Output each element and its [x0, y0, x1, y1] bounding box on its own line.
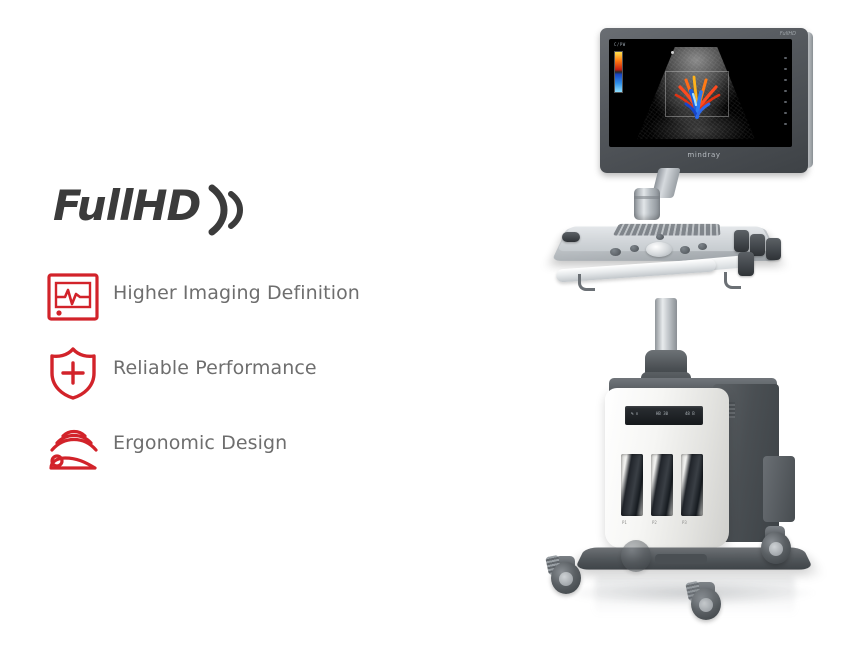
probe-port: [651, 454, 673, 516]
cable-hook: [578, 274, 595, 291]
control-panel: [538, 212, 800, 304]
status-strip-label: 48 B: [685, 411, 695, 416]
feature-list: Higher Imaging Definition Reliable Perfo…: [45, 270, 465, 495]
probe-port-label: P1: [622, 520, 627, 525]
fullhd-label: FullHD: [53, 182, 200, 230]
keyboard: [613, 224, 721, 236]
doppler-colorbar: [614, 51, 623, 93]
rotary-knob: [630, 245, 639, 252]
cart-rear-module: [763, 456, 795, 522]
probe-holder: [562, 232, 580, 242]
rotary-knob: [656, 234, 664, 240]
cable-hook: [724, 272, 741, 289]
lift-column: [655, 298, 677, 358]
caster-hub: [769, 542, 783, 556]
depth-scale-ticks: [784, 57, 788, 133]
feature-item: Higher Imaging Definition: [45, 270, 465, 345]
monitor-waveform-icon: [45, 270, 101, 326]
fullhd-badge: FullHD: [53, 182, 313, 244]
feature-item: Reliable Performance: [45, 345, 465, 420]
caster-hub: [559, 572, 573, 586]
patient-ultrasound-waves-icon: [45, 420, 101, 476]
shield-plus-icon: [45, 345, 101, 401]
base-notch: [655, 554, 707, 564]
marketing-banner: FullHD Higher Imaging Definition: [0, 0, 847, 656]
status-strip-label: % n: [631, 411, 638, 416]
monitor-corner-logo: FullHD: [780, 31, 796, 37]
rotary-knob: [698, 243, 707, 250]
monitor-post-ring: [634, 196, 660, 199]
monitor: FullHD: [600, 28, 808, 173]
feature-label: Ergonomic Design: [113, 432, 287, 454]
probe-holder: [766, 238, 781, 260]
feature-item: Ergonomic Design: [45, 420, 465, 495]
doppler-flow-overlay: [664, 67, 730, 119]
probe-port-label: P2: [652, 520, 657, 525]
floor-shadow: [565, 580, 815, 606]
rotary-knob: [610, 248, 621, 256]
ultrasound-screen: C/PW: [609, 39, 792, 147]
status-display-strip: % n HB 30 48 B: [625, 406, 703, 425]
ultrasound-machine-image: FullHD: [505, 20, 835, 640]
screen-marker-dot: [671, 51, 674, 54]
probe-holder: [734, 230, 749, 252]
probe-port: [681, 454, 703, 516]
caster-wheel: [757, 524, 791, 564]
probe-port: [621, 454, 643, 516]
status-strip-label: HB 30: [656, 411, 668, 416]
screen-mode-label: C/PW: [614, 42, 626, 47]
feature-panel: FullHD Higher Imaging Definition: [45, 170, 465, 500]
caster-tire: [621, 540, 651, 572]
caster-wheel: [617, 532, 651, 572]
feature-label: Higher Imaging Definition: [113, 282, 360, 304]
rotary-knob: [680, 246, 690, 254]
signal-waves-icon: [198, 180, 268, 240]
trackball: [646, 242, 672, 257]
feature-label: Reliable Performance: [113, 357, 317, 379]
monitor-brand-label: mindray: [600, 151, 808, 159]
probe-port-label: P3: [682, 520, 687, 525]
